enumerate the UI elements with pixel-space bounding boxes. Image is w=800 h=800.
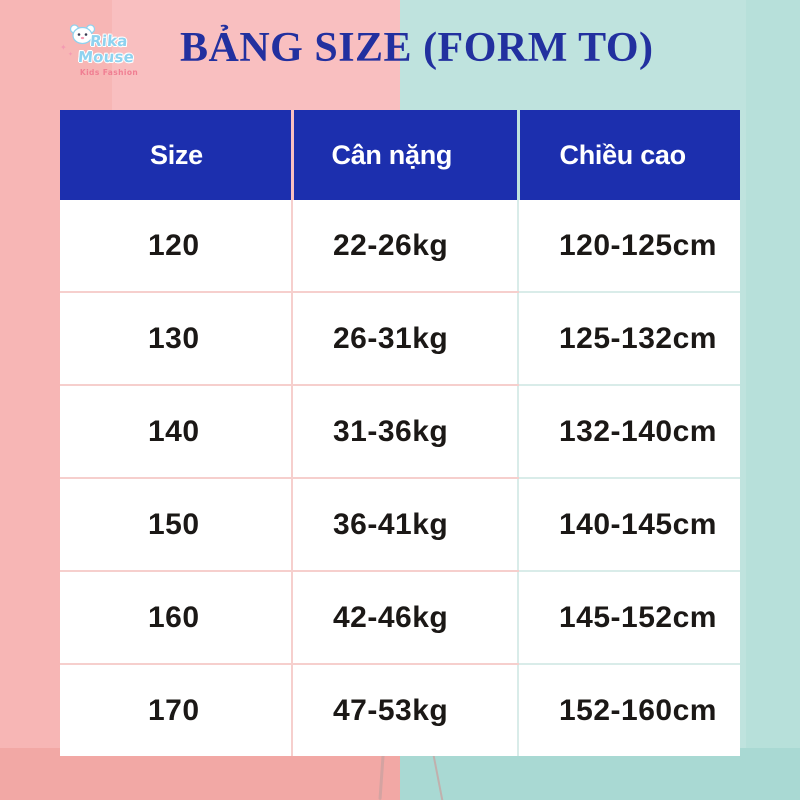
- column-header-weight: Cân nặng: [292, 110, 518, 200]
- cell-weight: 31-36kg: [292, 385, 518, 478]
- size-table-head: Size Cân nặng Chiều cao: [60, 110, 740, 200]
- cell-size: 150: [60, 478, 292, 571]
- cell-height: 140-145cm: [518, 478, 740, 571]
- table-row: 120 22-26kg 120-125cm: [60, 200, 740, 292]
- cell-height: 125-132cm: [518, 292, 740, 385]
- table-row: 140 31-36kg 132-140cm: [60, 385, 740, 478]
- table-row: 130 26-31kg 125-132cm: [60, 292, 740, 385]
- cell-weight: 36-41kg: [292, 478, 518, 571]
- column-header-height: Chiều cao: [518, 110, 740, 200]
- table-header-row: Size Cân nặng Chiều cao: [60, 110, 740, 200]
- cell-size: 160: [60, 571, 292, 664]
- cell-height: 145-152cm: [518, 571, 740, 664]
- brand-name-line1: Rika: [90, 34, 129, 49]
- cell-weight: 22-26kg: [292, 200, 518, 292]
- cell-size: 140: [60, 385, 292, 478]
- page-header: ✦ ✦ Rika Mouse Kids Fashion BẢNG SIZE (F…: [0, 0, 800, 110]
- cell-height: 132-140cm: [518, 385, 740, 478]
- cell-height: 120-125cm: [518, 200, 740, 292]
- size-chart-page: ✦ ✦ Rika Mouse Kids Fashion BẢNG SIZE (F…: [0, 0, 800, 800]
- background-right-edge-shade: [746, 0, 800, 800]
- sparkle-icon-2: ✦: [68, 52, 73, 58]
- cell-size: 170: [60, 664, 292, 756]
- brand-tagline: Kids Fashion: [80, 69, 138, 77]
- table-row: 150 36-41kg 140-145cm: [60, 478, 740, 571]
- brand-logo: ✦ ✦ Rika Mouse Kids Fashion: [60, 22, 158, 84]
- size-table: Size Cân nặng Chiều cao 120 22-26kg 120-…: [60, 110, 740, 756]
- page-title: BẢNG SIZE (FORM TO): [180, 24, 720, 72]
- cell-weight: 42-46kg: [292, 571, 518, 664]
- cell-weight: 26-31kg: [292, 292, 518, 385]
- table-row: 160 42-46kg 145-152cm: [60, 571, 740, 664]
- sparkle-icon-1: ✦: [60, 44, 67, 52]
- cell-height: 152-160cm: [518, 664, 740, 756]
- size-table-body: 120 22-26kg 120-125cm 130 26-31kg 125-13…: [60, 200, 740, 756]
- cell-size: 130: [60, 292, 292, 385]
- table-row: 170 47-53kg 152-160cm: [60, 664, 740, 756]
- column-header-size: Size: [60, 110, 292, 200]
- cell-weight: 47-53kg: [292, 664, 518, 756]
- brand-name-line2: Mouse: [77, 50, 134, 65]
- cell-size: 120: [60, 200, 292, 292]
